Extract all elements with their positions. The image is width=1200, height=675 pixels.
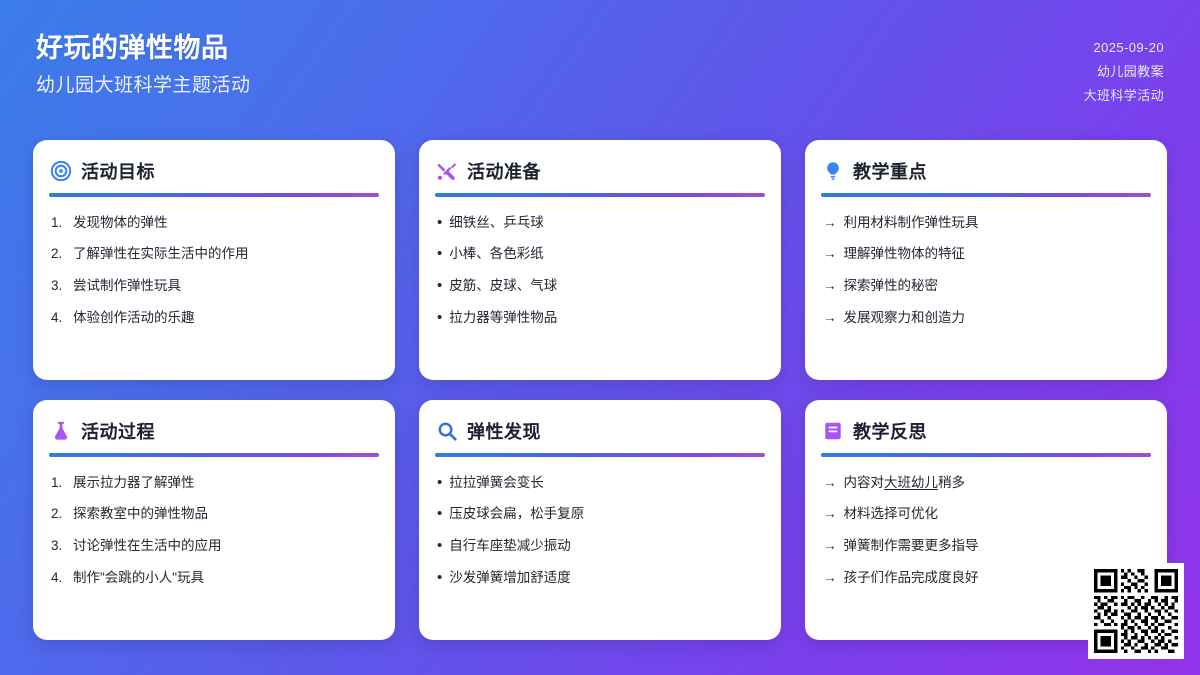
list-marker-bullet: • xyxy=(437,214,442,233)
list-item: 2.探索教室中的弹性物品 xyxy=(51,499,379,531)
list-item-text: 沙发弹簧增加舒适度 xyxy=(449,568,571,589)
card-2: 活动准备•细铁丝、乒乓球•小棒、各色彩纸•皮筋、皮球、气球•拉力器等弹性物品 xyxy=(419,140,781,380)
list-item-text: 探索教室中的弹性物品 xyxy=(73,504,208,525)
list-marker-number: 4. xyxy=(51,308,66,329)
header-meta-line-2: 幼儿园教案 xyxy=(1097,62,1164,82)
tools-icon xyxy=(436,160,458,182)
list-item-text: 内容对大班幼儿稍多 xyxy=(844,473,966,494)
list-item: •拉力器等弹性物品 xyxy=(437,303,765,335)
list-item: •皮筋、皮球、气球 xyxy=(437,271,765,303)
list-item-text: 理解弹性物体的特征 xyxy=(844,244,966,265)
list-item: •压皮球会扁，松手复原 xyxy=(437,499,765,531)
list-item-text: 弹簧制作需要更多指导 xyxy=(844,536,979,557)
list-marker-arrow: → xyxy=(823,473,837,494)
list-marker-bullet: • xyxy=(437,505,442,524)
list-item-text: 展示拉力器了解弹性 xyxy=(73,473,195,494)
card-title: 弹性发现 xyxy=(467,418,541,444)
list-item-text: 小棒、各色彩纸 xyxy=(449,244,544,265)
list-item: 1.发现物体的弹性 xyxy=(51,207,379,239)
list-item: 3.讨论弹性在生活中的应用 xyxy=(51,531,379,563)
lightbulb-icon xyxy=(822,160,844,182)
card-header: 活动过程 xyxy=(49,418,379,444)
card-item-list: •拉拉弹簧会变长•压皮球会扁，松手复原•自行车座垫减少振动•沙发弹簧增加舒适度 xyxy=(435,467,765,595)
list-item: 3.尝试制作弹性玩具 xyxy=(51,271,379,303)
header-titles: 好玩的弹性物品 幼儿园大班科学主题活动 xyxy=(36,30,251,101)
card-title: 活动准备 xyxy=(467,158,541,184)
list-marker-arrow: → xyxy=(823,504,837,525)
list-item-text: 尝试制作弹性玩具 xyxy=(73,276,181,297)
list-item-text: 细铁丝、乒乓球 xyxy=(449,213,544,234)
card-header: 教学重点 xyxy=(821,158,1151,184)
card-header: 教学反思 xyxy=(821,418,1151,444)
list-item: →理解弹性物体的特征 xyxy=(823,239,1151,271)
list-item: 1.展示拉力器了解弹性 xyxy=(51,467,379,499)
flask-icon xyxy=(50,420,72,442)
card-title: 活动过程 xyxy=(81,418,155,444)
list-item: →弹簧制作需要更多指导 xyxy=(823,531,1151,563)
list-item-text: 体验创作活动的乐趣 xyxy=(73,308,195,329)
list-marker-number: 3. xyxy=(51,536,66,557)
list-marker-bullet: • xyxy=(437,537,442,556)
list-item: 4.体验创作活动的乐趣 xyxy=(51,303,379,335)
list-item: →利用材料制作弹性玩具 xyxy=(823,207,1151,239)
list-item-text: 制作"会跳的小人"玩具 xyxy=(73,568,204,589)
card-title: 活动目标 xyxy=(81,158,155,184)
card-item-list: 1.发现物体的弹性2.了解弹性在实际生活中的作用3.尝试制作弹性玩具4.体验创作… xyxy=(49,207,379,335)
list-marker-arrow: → xyxy=(823,536,837,557)
list-item: •小棒、各色彩纸 xyxy=(437,239,765,271)
card-header: 活动目标 xyxy=(49,158,379,184)
card-header: 活动准备 xyxy=(435,158,765,184)
list-item-text: 发现物体的弹性 xyxy=(73,213,168,234)
card-title: 教学反思 xyxy=(853,418,927,444)
card-accent-bar xyxy=(49,453,379,457)
list-item: 2.了解弹性在实际生活中的作用 xyxy=(51,239,379,271)
list-item-text: 自行车座垫减少振动 xyxy=(449,536,571,557)
list-marker-bullet: • xyxy=(437,474,442,493)
list-marker-arrow: → xyxy=(823,244,837,265)
list-marker-number: 1. xyxy=(51,473,66,494)
list-item: →发展观察力和创造力 xyxy=(823,303,1151,335)
card-title: 教学重点 xyxy=(853,158,927,184)
list-marker-arrow: → xyxy=(823,213,837,234)
card-5: 弹性发现•拉拉弹簧会变长•压皮球会扁，松手复原•自行车座垫减少振动•沙发弹簧增加… xyxy=(419,400,781,640)
card-accent-bar xyxy=(49,193,379,197)
card-accent-bar xyxy=(435,453,765,457)
header-meta: 2025-09-20 幼儿园教案 大班科学活动 xyxy=(1084,30,1164,106)
list-marker-number: 2. xyxy=(51,244,66,265)
list-marker-arrow: → xyxy=(823,276,837,297)
list-marker-bullet: • xyxy=(437,245,442,264)
list-marker-number: 2. xyxy=(51,504,66,525)
header-date: 2025-09-20 xyxy=(1094,38,1165,58)
target-icon xyxy=(50,160,72,182)
card-item-list: →利用材料制作弹性玩具→理解弹性物体的特征→探索弹性的秘密→发展观察力和创造力 xyxy=(821,207,1151,335)
list-item: →内容对大班幼儿稍多 xyxy=(823,467,1151,499)
list-item: →材料选择可优化 xyxy=(823,499,1151,531)
list-item-text: 压皮球会扁，松手复原 xyxy=(449,504,584,525)
list-marker-arrow: → xyxy=(823,568,837,589)
list-marker-number: 4. xyxy=(51,568,66,589)
list-item-text: 拉拉弹簧会变长 xyxy=(449,473,544,494)
list-item-text: 拉力器等弹性物品 xyxy=(449,308,557,329)
card-header: 弹性发现 xyxy=(435,418,765,444)
card-accent-bar xyxy=(821,453,1151,457)
list-item-text: 孩子们作品完成度良好 xyxy=(844,568,979,589)
card-4: 活动过程1.展示拉力器了解弹性2.探索教室中的弹性物品3.讨论弹性在生活中的应用… xyxy=(33,400,395,640)
list-marker-bullet: • xyxy=(437,309,442,328)
list-marker-bullet: • xyxy=(437,277,442,296)
list-item: 4.制作"会跳的小人"玩具 xyxy=(51,563,379,595)
list-item-text: 材料选择可优化 xyxy=(844,504,939,525)
list-marker-number: 1. xyxy=(51,213,66,234)
search-icon xyxy=(436,420,458,442)
card-3: 教学重点→利用材料制作弹性玩具→理解弹性物体的特征→探索弹性的秘密→发展观察力和… xyxy=(805,140,1167,380)
list-item-text: 讨论弹性在生活中的应用 xyxy=(73,536,222,557)
list-marker-number: 3. xyxy=(51,276,66,297)
list-item-text: 发展观察力和创造力 xyxy=(844,308,966,329)
emphasis-underline: 大班幼儿 xyxy=(884,475,938,490)
list-item-text: 皮筋、皮球、气球 xyxy=(449,276,557,297)
book-icon xyxy=(822,420,844,442)
header-meta-line-3: 大班科学活动 xyxy=(1084,86,1164,106)
qr-code[interactable] xyxy=(1088,563,1184,659)
list-item: •细铁丝、乒乓球 xyxy=(437,207,765,239)
list-item-text: 探索弹性的秘密 xyxy=(844,276,939,297)
card-accent-bar xyxy=(435,193,765,197)
card-item-list: 1.展示拉力器了解弹性2.探索教室中的弹性物品3.讨论弹性在生活中的应用4.制作… xyxy=(49,467,379,595)
list-item: →探索弹性的秘密 xyxy=(823,271,1151,303)
page-header: 好玩的弹性物品 幼儿园大班科学主题活动 2025-09-20 幼儿园教案 大班科… xyxy=(0,0,1200,130)
card-item-list: •细铁丝、乒乓球•小棒、各色彩纸•皮筋、皮球、气球•拉力器等弹性物品 xyxy=(435,207,765,335)
list-item: •沙发弹簧增加舒适度 xyxy=(437,563,765,595)
list-item: •拉拉弹簧会变长 xyxy=(437,467,765,499)
list-item: •自行车座垫减少振动 xyxy=(437,531,765,563)
card-1: 活动目标1.发现物体的弹性2.了解弹性在实际生活中的作用3.尝试制作弹性玩具4.… xyxy=(33,140,395,380)
list-item-text: 利用材料制作弹性玩具 xyxy=(844,213,979,234)
list-marker-bullet: • xyxy=(437,569,442,588)
list-marker-arrow: → xyxy=(823,308,837,329)
list-item-text: 了解弹性在实际生活中的作用 xyxy=(73,244,249,265)
page-subtitle: 幼儿园大班科学主题活动 xyxy=(36,72,251,101)
card-grid: 活动目标1.发现物体的弹性2.了解弹性在实际生活中的作用3.尝试制作弹性玩具4.… xyxy=(33,140,1167,640)
card-accent-bar xyxy=(821,193,1151,197)
page-title: 好玩的弹性物品 xyxy=(36,30,251,66)
